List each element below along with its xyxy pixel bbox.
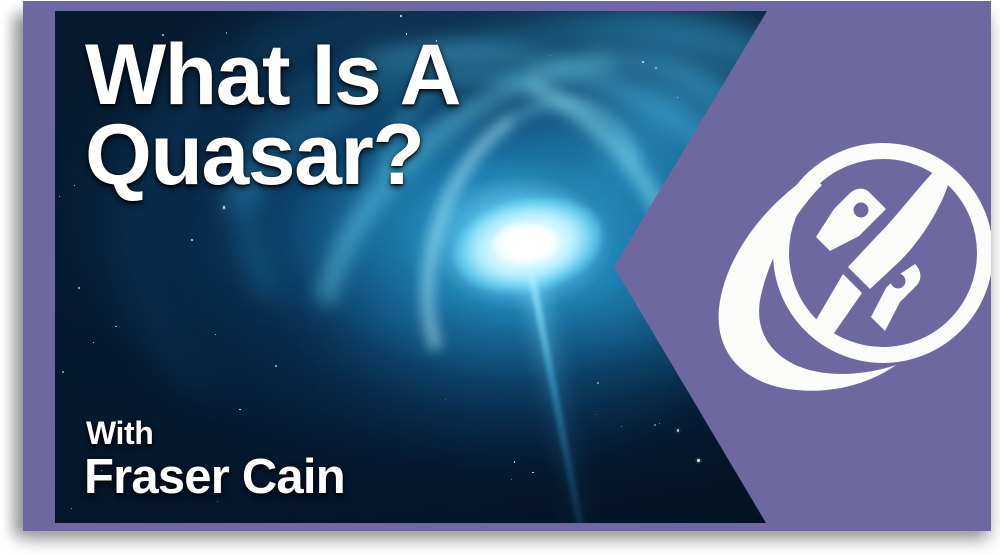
host-name: Fraser Cain	[84, 449, 345, 505]
star	[677, 429, 680, 432]
universe-today-rocket-logo	[710, 131, 991, 401]
star	[215, 334, 216, 335]
video-title: What Is A Quasar?	[85, 35, 705, 195]
credit-prefix: With	[86, 415, 153, 452]
star	[597, 382, 599, 384]
star	[115, 326, 116, 327]
quasar-core	[493, 223, 559, 263]
star	[223, 206, 226, 209]
star	[697, 459, 700, 462]
star	[659, 423, 660, 424]
thumbnail-stage: What Is A Quasar? With Fraser Cain	[0, 0, 1000, 555]
star	[400, 15, 402, 17]
star	[445, 399, 446, 400]
star	[62, 371, 64, 373]
star	[514, 461, 515, 462]
star	[654, 424, 656, 426]
star	[93, 342, 94, 343]
star	[511, 479, 512, 480]
star	[239, 409, 240, 410]
star	[71, 508, 72, 509]
star	[74, 185, 75, 186]
star	[191, 239, 193, 241]
thumbnail-frame-border: What Is A Quasar? With Fraser Cain	[23, 1, 991, 531]
star	[59, 196, 60, 197]
star	[275, 365, 277, 367]
thumbnail-card: What Is A Quasar? With Fraser Cain	[55, 11, 991, 523]
rocket-porthole	[854, 203, 869, 218]
star	[532, 472, 533, 473]
star	[78, 287, 80, 289]
star	[621, 426, 622, 427]
star	[596, 414, 597, 415]
rocket-porthole	[891, 274, 906, 289]
